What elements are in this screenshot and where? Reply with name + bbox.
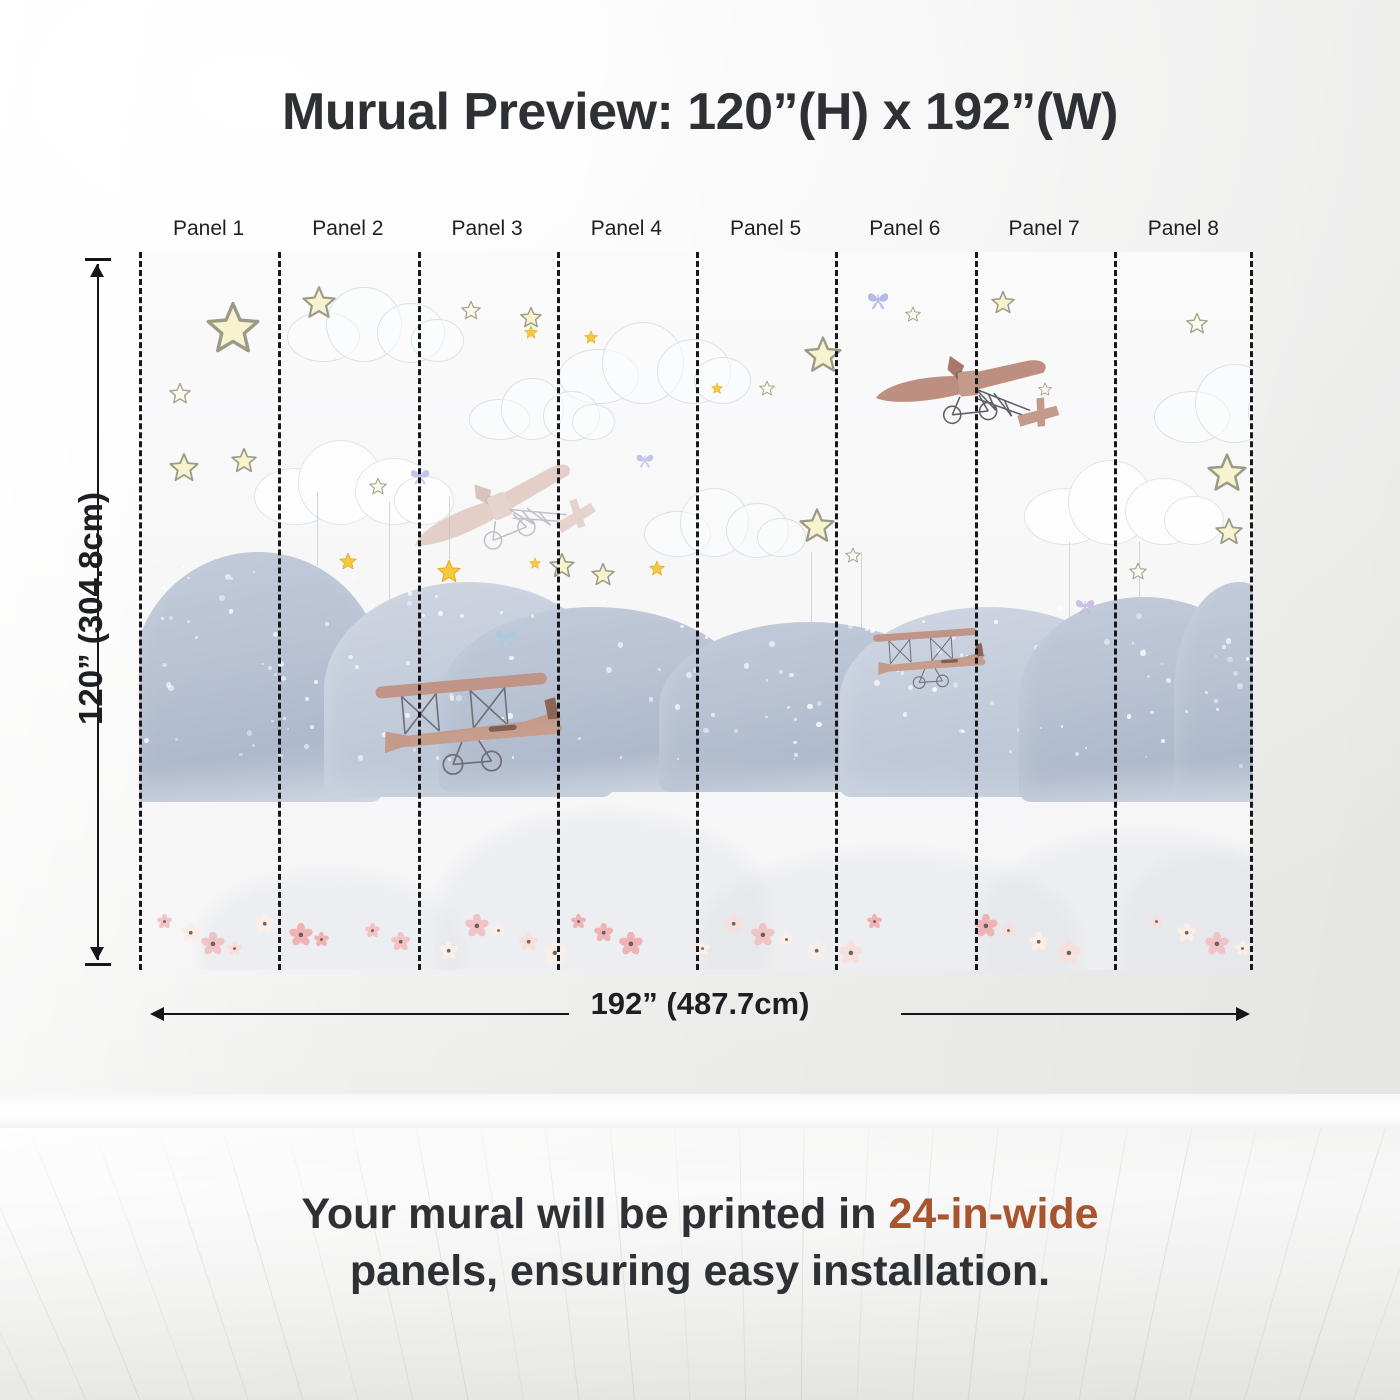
cloud-speckle bbox=[658, 668, 661, 671]
cloud-speckle bbox=[1166, 678, 1172, 684]
flower-33 bbox=[365, 923, 380, 938]
cloud-speckle bbox=[1145, 756, 1147, 758]
white-cloud-4 bbox=[1024, 452, 1219, 543]
cloud-speckle bbox=[817, 701, 822, 706]
cloud-speckle bbox=[273, 632, 278, 637]
panel-label-7: Panel 7 bbox=[974, 217, 1114, 241]
cloud-speckle bbox=[1040, 727, 1043, 730]
cloud-speckle bbox=[1239, 764, 1243, 768]
cloud-speckle bbox=[1058, 606, 1063, 611]
cloud-speckle bbox=[734, 729, 738, 733]
height-cap-bottom bbox=[85, 963, 111, 966]
cloud-speckle bbox=[787, 706, 790, 709]
cloud-speckle bbox=[348, 655, 353, 660]
panel-divider-8 bbox=[1250, 252, 1253, 970]
cloud-speckle bbox=[1140, 650, 1146, 656]
cloud-speckle bbox=[769, 641, 775, 647]
star-13 bbox=[649, 560, 665, 576]
cloud-speckle bbox=[793, 741, 796, 744]
panel-label-8: Panel 8 bbox=[1113, 217, 1253, 241]
flower-35 bbox=[839, 941, 863, 965]
cloud-speckle bbox=[274, 673, 277, 676]
cloud-speckle bbox=[794, 753, 798, 757]
cloud-speckle bbox=[789, 673, 794, 678]
star-28 bbox=[905, 306, 921, 322]
cloud-speckle bbox=[281, 676, 286, 681]
cloud-speckle bbox=[268, 666, 272, 670]
cloud-speckle bbox=[600, 599, 605, 604]
cloud-speckle bbox=[371, 604, 375, 608]
monoplane-upper-right bbox=[864, 337, 1064, 461]
star-19 bbox=[1186, 312, 1208, 334]
star-20 bbox=[1207, 452, 1247, 492]
flower-22 bbox=[1029, 932, 1048, 951]
cloud-speckle bbox=[1009, 750, 1012, 753]
height-arrowhead-down bbox=[90, 947, 104, 960]
star-string-a bbox=[317, 492, 318, 566]
cloud-speckle bbox=[182, 566, 185, 569]
flower-23 bbox=[1057, 941, 1081, 965]
cloud-speckle bbox=[252, 744, 255, 747]
cloud-speckle bbox=[903, 712, 908, 717]
cloud-speckle bbox=[1227, 657, 1232, 662]
cloud-speckle bbox=[144, 738, 149, 743]
cloud-speckle bbox=[195, 636, 199, 640]
cloud-speckle bbox=[406, 661, 410, 665]
cloud-speckle bbox=[1246, 657, 1249, 660]
cloud-speckle bbox=[680, 625, 684, 629]
cloud-speckle bbox=[620, 756, 623, 759]
butterfly-3 bbox=[866, 290, 890, 310]
flower-9 bbox=[491, 923, 506, 938]
cloud-speckle bbox=[874, 622, 876, 624]
panel-divider-7 bbox=[1114, 252, 1117, 970]
cloud-speckle bbox=[990, 701, 993, 704]
height-dimension-label: 120” (304.8cm) bbox=[72, 492, 110, 725]
flower-16 bbox=[724, 914, 743, 933]
flower-2 bbox=[201, 932, 225, 956]
cloud-speckle bbox=[408, 591, 412, 595]
cloud-speckle bbox=[230, 577, 234, 581]
cloud-speckle bbox=[1161, 739, 1165, 743]
cloud-speckle bbox=[1226, 638, 1232, 644]
cloud-speckle bbox=[175, 738, 178, 741]
flower-36 bbox=[867, 914, 882, 929]
cloud-speckle bbox=[161, 617, 164, 620]
star-8 bbox=[584, 330, 598, 344]
cloud-speckle bbox=[744, 663, 750, 669]
cloud-speckle bbox=[283, 717, 286, 720]
cloud-speckle bbox=[187, 577, 190, 580]
cloud-speckle bbox=[261, 663, 264, 666]
cloud-speckle bbox=[407, 601, 413, 607]
panel-divider-0 bbox=[139, 252, 142, 970]
cloud-speckle bbox=[686, 672, 692, 678]
caption: Your mural will be printed in 24-in-wide… bbox=[100, 1186, 1300, 1300]
baseboard bbox=[0, 1094, 1400, 1128]
height-cap-top bbox=[85, 258, 111, 261]
star-1 bbox=[169, 382, 191, 404]
flower-7 bbox=[439, 941, 458, 960]
cloud-speckle bbox=[153, 559, 156, 562]
cloud-speckle bbox=[994, 620, 997, 623]
cloud-speckle bbox=[219, 595, 225, 601]
flower-17 bbox=[751, 923, 775, 947]
cloud-speckle bbox=[766, 679, 769, 682]
flower-8 bbox=[465, 914, 489, 938]
flower-24 bbox=[1149, 914, 1164, 929]
cloud-speckle bbox=[1214, 699, 1218, 703]
flower-10 bbox=[519, 932, 538, 951]
panel-divider-5 bbox=[835, 252, 838, 970]
page-title: Murual Preview: 120”(H) x 192”(W) bbox=[0, 82, 1400, 142]
panel-divider-3 bbox=[557, 252, 560, 970]
cloud-speckle bbox=[355, 665, 359, 669]
flower-14 bbox=[619, 932, 643, 956]
mural-preview-screenshot: Murual Preview: 120”(H) x 192”(W) Panel … bbox=[0, 0, 1400, 1400]
cloud-speckle bbox=[1061, 725, 1064, 728]
cloud-speckle bbox=[500, 611, 503, 614]
white-cloud-5 bbox=[1154, 357, 1253, 441]
height-arrowhead-up bbox=[90, 264, 104, 277]
cloud-speckle bbox=[1215, 655, 1218, 658]
star-7 bbox=[524, 325, 538, 339]
cloud-speckle bbox=[314, 680, 317, 683]
star-12 bbox=[591, 562, 615, 586]
flower-12 bbox=[571, 914, 586, 929]
flower-27 bbox=[1235, 941, 1250, 956]
star-0 bbox=[206, 300, 260, 354]
panel-label-3: Panel 3 bbox=[417, 217, 557, 241]
panel-label-1: Panel 1 bbox=[139, 217, 279, 241]
flower-25 bbox=[1177, 923, 1196, 942]
cloud-speckle bbox=[531, 614, 535, 618]
caption-accent: 24-in-wide bbox=[888, 1190, 1098, 1238]
cloud-speckle bbox=[229, 609, 233, 613]
cloud-speckle bbox=[1222, 645, 1226, 649]
star-15 bbox=[799, 507, 835, 543]
cloud-speckle bbox=[606, 667, 612, 673]
cloud-speckle bbox=[168, 685, 174, 691]
cloud-speckle bbox=[1075, 752, 1079, 756]
cloud-speckle bbox=[578, 737, 581, 740]
cloud-speckle bbox=[1233, 671, 1238, 676]
star-4 bbox=[302, 285, 336, 319]
cloud-speckle bbox=[1150, 711, 1153, 714]
flower-0 bbox=[157, 914, 172, 929]
flower-6 bbox=[314, 932, 329, 947]
flower-26 bbox=[1205, 932, 1229, 956]
butterfly-4 bbox=[635, 452, 655, 468]
cloud-speckle bbox=[187, 620, 190, 623]
cloud-speckle bbox=[675, 704, 680, 709]
flower-34 bbox=[391, 932, 410, 951]
cloud-speckle bbox=[1085, 747, 1087, 749]
panel-label-6: Panel 6 bbox=[835, 217, 975, 241]
star-10 bbox=[369, 477, 387, 495]
cloud-speckle bbox=[1127, 714, 1132, 719]
caption-line2: panels, ensuring easy installation. bbox=[350, 1247, 1050, 1295]
cloud-speckle bbox=[703, 728, 708, 733]
cloud-speckle bbox=[239, 753, 242, 756]
star-22 bbox=[1129, 562, 1147, 580]
cloud-speckle bbox=[779, 670, 783, 674]
cloud-speckle bbox=[1147, 675, 1150, 678]
cloud-speckle bbox=[310, 725, 314, 729]
cloud-speckle bbox=[438, 611, 444, 617]
cloud-speckle bbox=[271, 720, 273, 722]
panel-label-4: Panel 4 bbox=[556, 217, 696, 241]
star-18 bbox=[991, 290, 1015, 314]
flower-1 bbox=[181, 923, 200, 942]
panel-divider-6 bbox=[975, 252, 978, 970]
cloud-speckle bbox=[287, 728, 289, 730]
cloud-speckle bbox=[1205, 691, 1208, 694]
cloud-speckle bbox=[422, 614, 425, 617]
caption-line1-before: Your mural will be printed in bbox=[301, 1190, 888, 1238]
cloud-speckle bbox=[169, 616, 172, 619]
white-cloud-3 bbox=[469, 372, 612, 439]
star-5 bbox=[461, 300, 481, 320]
star-21 bbox=[1215, 517, 1243, 545]
flower-21 bbox=[1001, 923, 1016, 938]
cloud-speckle bbox=[649, 697, 653, 701]
cloud-speckle bbox=[305, 697, 309, 701]
cloud-speckle bbox=[247, 730, 253, 736]
flower-19 bbox=[807, 941, 826, 960]
panel-label-2: Panel 2 bbox=[278, 217, 418, 241]
cloud-speckle bbox=[1216, 708, 1219, 711]
flower-3 bbox=[227, 941, 242, 956]
star-2 bbox=[231, 447, 257, 473]
cloud-speckle bbox=[304, 744, 309, 749]
cloud-speckle bbox=[162, 663, 166, 667]
butterfly-2 bbox=[494, 627, 518, 647]
biplane-lower-left bbox=[357, 655, 581, 785]
star-24 bbox=[759, 380, 775, 396]
star-25 bbox=[339, 552, 357, 570]
cloud-speckle bbox=[765, 716, 768, 719]
butterfly-5 bbox=[1074, 597, 1096, 615]
cloud-speckle bbox=[677, 758, 679, 760]
cloud-speckle bbox=[618, 642, 624, 648]
cloud-speckle bbox=[325, 622, 329, 626]
cloud-speckle bbox=[807, 704, 813, 710]
panel-divider-2 bbox=[418, 252, 421, 970]
cloud-speckle bbox=[1237, 683, 1243, 689]
cloud-speckle bbox=[794, 718, 797, 721]
cloud-speckle bbox=[162, 586, 166, 590]
panel-label-5: Panel 5 bbox=[696, 217, 836, 241]
panel-divider-1 bbox=[278, 252, 281, 970]
cloud-speckle bbox=[1132, 642, 1134, 644]
cloud-speckle bbox=[1104, 639, 1110, 645]
flower-11 bbox=[543, 941, 567, 965]
panel-divider-4 bbox=[696, 252, 699, 970]
star-27 bbox=[711, 382, 723, 394]
cloud-speckle bbox=[1161, 663, 1163, 665]
star-3 bbox=[169, 452, 199, 482]
star-16 bbox=[845, 547, 861, 563]
white-cloud-6 bbox=[644, 482, 802, 556]
cloud-speckle bbox=[352, 573, 357, 578]
star-string-d bbox=[811, 552, 812, 624]
flower-18 bbox=[779, 932, 794, 947]
cloud-speckle bbox=[1136, 613, 1142, 619]
flower-13 bbox=[594, 923, 613, 942]
cloud-speckle bbox=[816, 722, 821, 727]
cloud-speckle bbox=[961, 730, 965, 734]
cloud-speckle bbox=[793, 758, 795, 760]
cloud-speckle bbox=[1185, 710, 1188, 713]
cloud-speckle bbox=[312, 559, 315, 562]
cloud-speckle bbox=[253, 571, 255, 573]
flower-4 bbox=[255, 914, 274, 933]
cloud-speckle bbox=[460, 614, 464, 618]
mural-preview-area: Panel 1Panel 2Panel 3Panel 4Panel 5Panel… bbox=[139, 252, 1253, 970]
cloud-speckle bbox=[711, 713, 715, 717]
width-dimension-label: 192” (487.7cm) bbox=[0, 986, 1400, 1022]
flower-5 bbox=[289, 923, 313, 947]
cloud-speckle bbox=[358, 755, 364, 761]
